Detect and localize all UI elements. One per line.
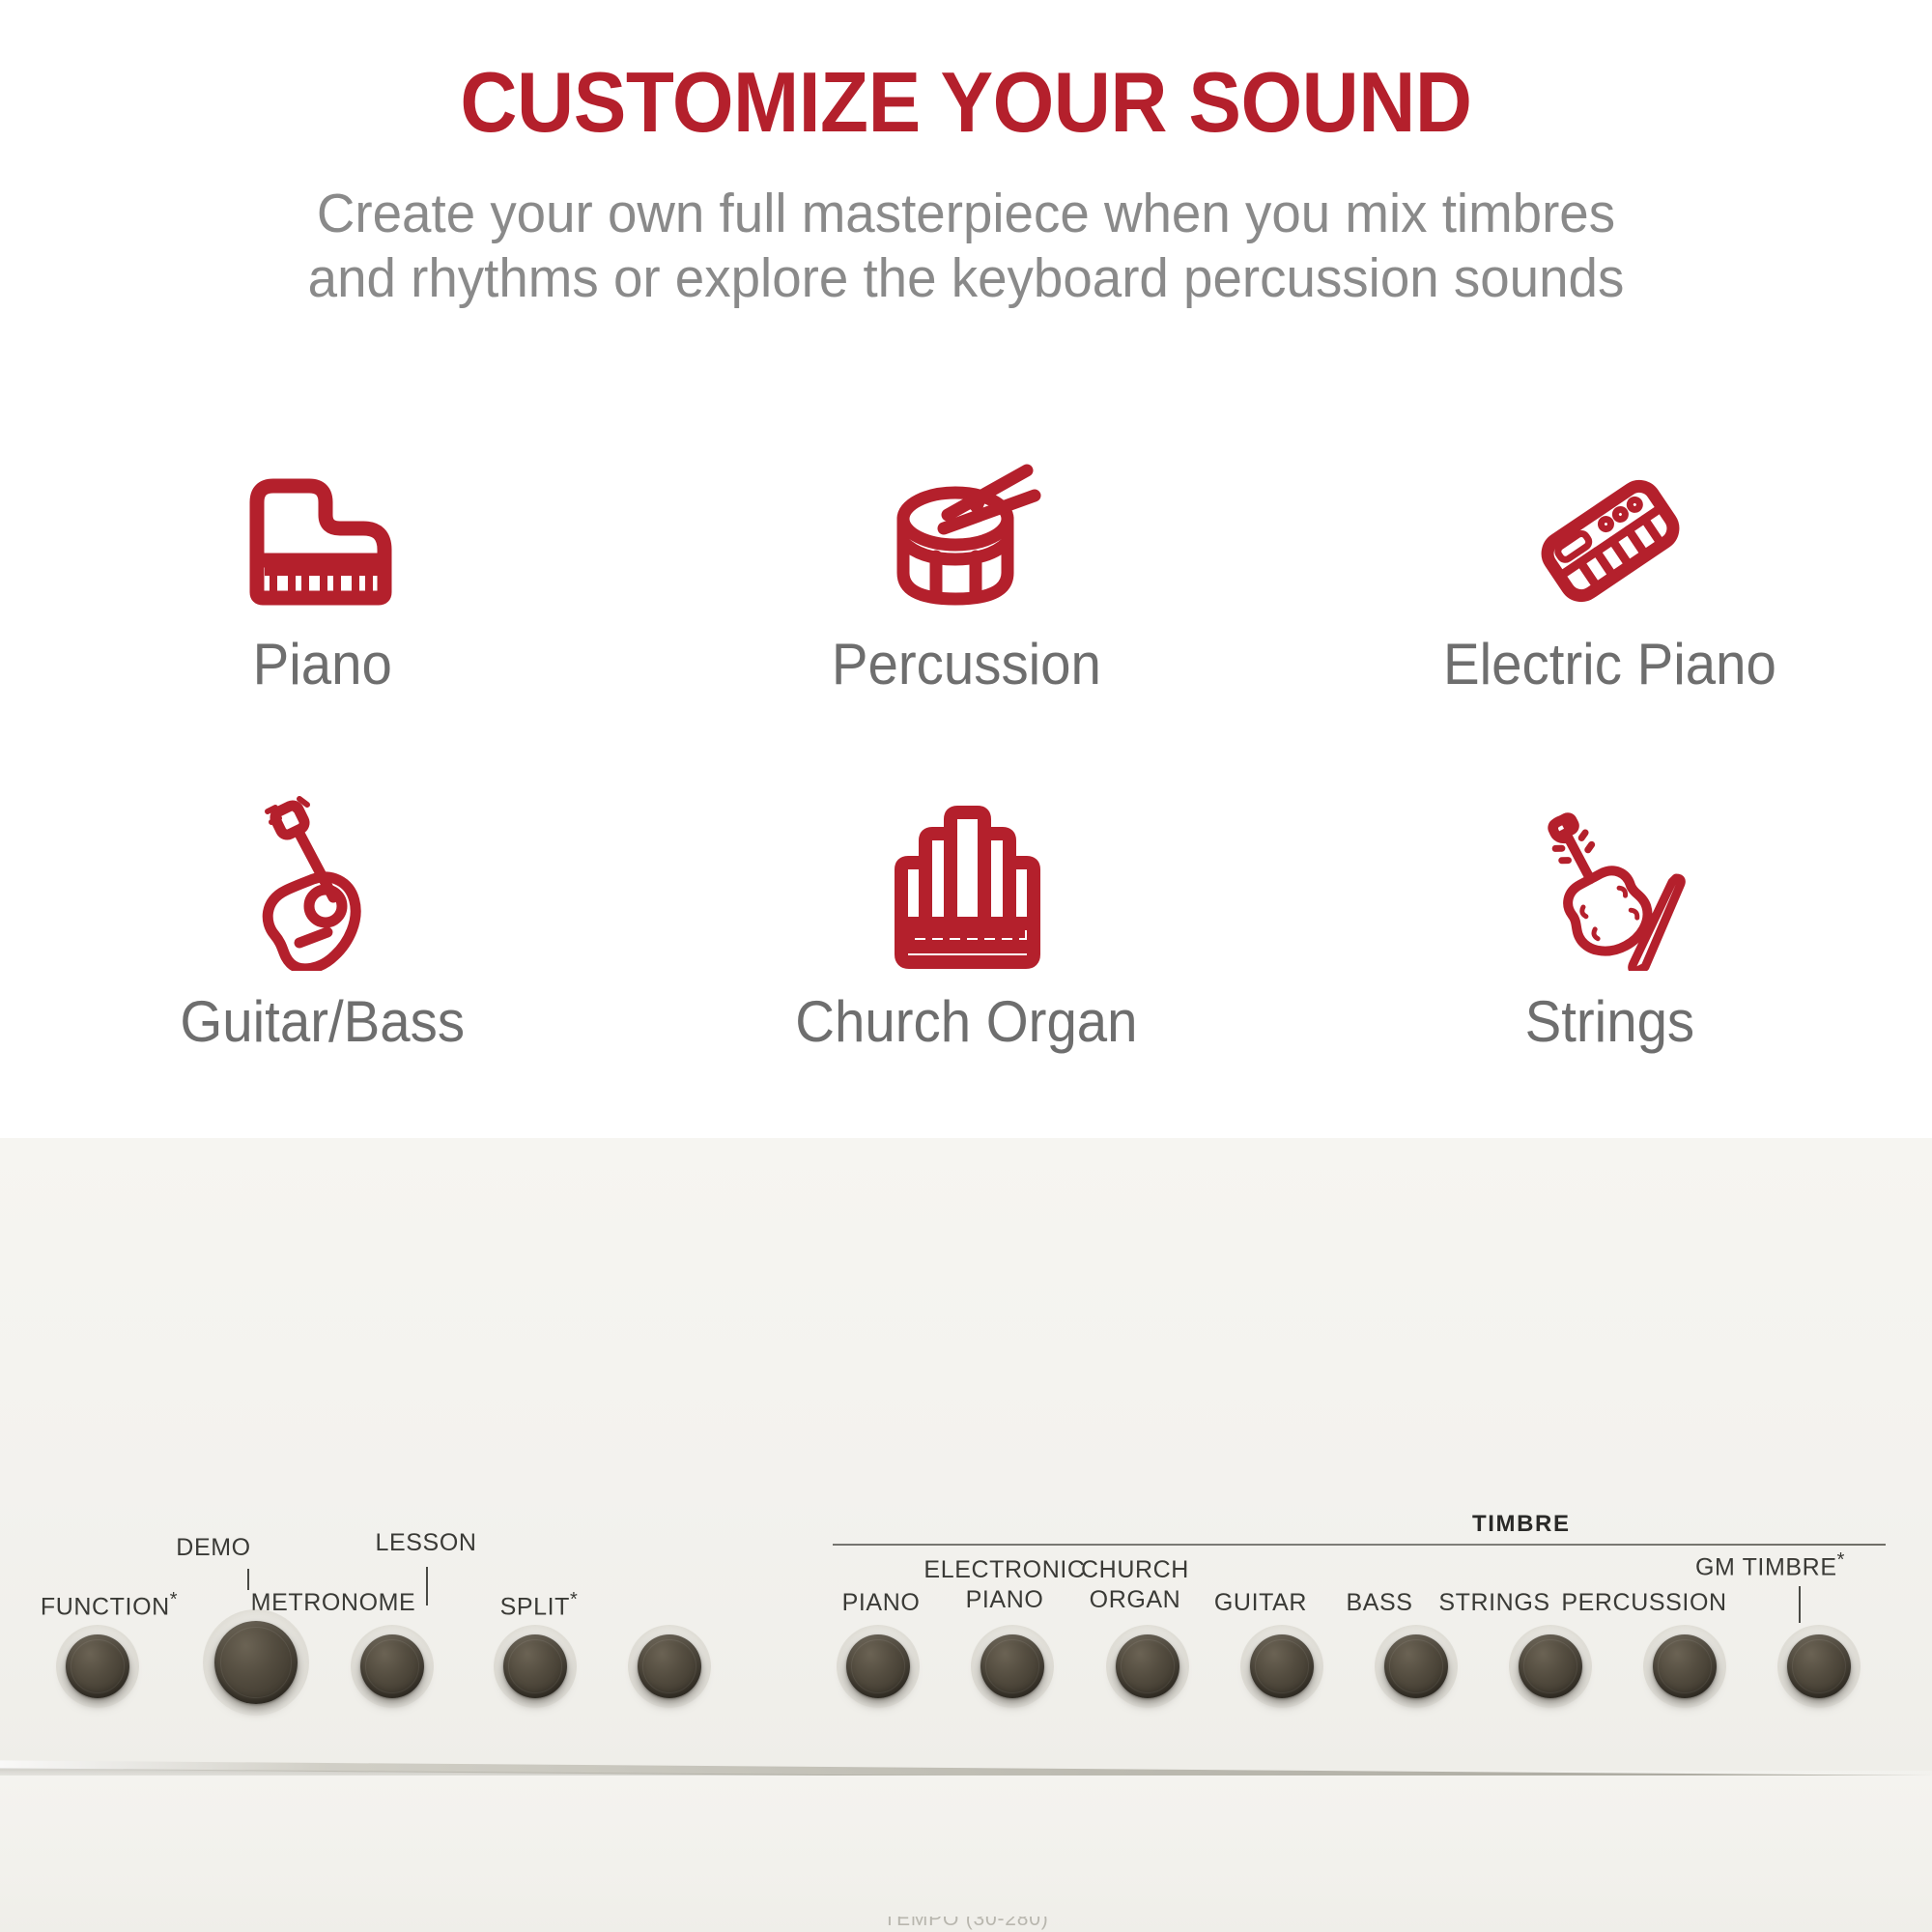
feature-grid: Piano — [0, 440, 1932, 1055]
page-subtitle: Create your own full masterpiece when yo… — [168, 182, 1763, 312]
label-text: BASS — [1346, 1589, 1412, 1616]
control-label-bass: BASS — [1321, 1589, 1437, 1617]
electric-keyboard-icon — [1523, 440, 1697, 613]
button-timbre-church-organ[interactable] — [1116, 1634, 1179, 1698]
snare-drum-icon — [882, 440, 1051, 613]
grand-piano-icon — [240, 440, 404, 613]
asterisk-marker: * — [1837, 1549, 1845, 1571]
label-text: DEMO — [176, 1534, 250, 1561]
control-label-function: FUNCTION* — [32, 1589, 186, 1621]
label-text: PIANO — [842, 1589, 921, 1616]
button-split[interactable] — [638, 1634, 701, 1698]
subtitle-line-1: Create your own full masterpiece when yo… — [317, 183, 1615, 244]
label-text: ORGAN — [1058, 1585, 1212, 1615]
button-metronome[interactable] — [360, 1634, 424, 1698]
promo-top-panel: CUSTOMIZE YOUR SOUND Create your own ful… — [0, 0, 1932, 1138]
button-timbre-strings[interactable] — [1519, 1634, 1582, 1698]
pipe-organ-icon — [887, 797, 1046, 971]
feature-item-percussion: Percussion — [644, 440, 1289, 697]
control-label-split: SPLIT* — [486, 1589, 592, 1621]
button-demo[interactable] — [214, 1621, 298, 1704]
feature-label: Strings — [1525, 988, 1695, 1055]
feature-label: Guitar/Bass — [180, 988, 465, 1055]
feature-item-strings: Strings — [1288, 797, 1932, 1055]
button-lesson[interactable] — [503, 1634, 567, 1698]
button-function[interactable] — [66, 1634, 129, 1698]
subtitle-line-2: and rhythms or explore the keyboard perc… — [168, 246, 1763, 311]
button-timbre-piano[interactable] — [846, 1634, 910, 1698]
feature-item-church-organ: Church Organ — [644, 797, 1289, 1055]
lesson-tick-line — [426, 1567, 428, 1605]
demo-tick-line — [247, 1569, 249, 1590]
panel-lower-surface — [0, 1776, 1932, 1932]
timbre-group-label: TIMBRE — [1472, 1511, 1571, 1538]
label-text: STRINGS — [1438, 1589, 1549, 1616]
button-timbre-electronic-piano[interactable] — [980, 1634, 1044, 1698]
acoustic-guitar-icon — [244, 797, 399, 971]
control-label-gm-timbre: GM TIMBRE* — [1695, 1549, 1918, 1581]
control-label-church-organ: CHURCH ORGAN — [1058, 1555, 1212, 1614]
button-timbre-guitar[interactable] — [1250, 1634, 1314, 1698]
label-text: LESSON — [375, 1529, 476, 1556]
label-text: PERCUSSION — [1561, 1589, 1726, 1616]
button-timbre-percussion[interactable] — [1653, 1634, 1717, 1698]
label-sub-text: CHURCH — [1058, 1555, 1212, 1585]
label-text: SPLIT — [500, 1593, 570, 1620]
feature-label: Piano — [252, 631, 391, 697]
control-label-guitar: GUITAR — [1198, 1589, 1323, 1617]
feature-label: Electric Piano — [1443, 631, 1776, 697]
feature-item-guitar-bass: Guitar/Bass — [0, 797, 644, 1055]
keyboard-photo — [0, 1138, 1932, 1932]
control-label-demo: DEMO — [160, 1534, 267, 1562]
label-text: METRONOME — [251, 1589, 416, 1616]
timbre-group-rule — [833, 1544, 1886, 1546]
control-label-lesson: LESSON — [368, 1529, 484, 1557]
control-label-percussion: PERCUSSION — [1543, 1589, 1746, 1617]
gm-timbre-tick-line — [1799, 1586, 1801, 1623]
tempo-label: TEMPO (30-280) — [0, 1917, 1932, 1931]
feature-item-electric-piano: Electric Piano — [1288, 440, 1932, 697]
button-timbre-bass[interactable] — [1384, 1634, 1448, 1698]
violin-icon — [1525, 797, 1694, 971]
asterisk-marker: * — [570, 1589, 578, 1610]
asterisk-marker: * — [170, 1589, 178, 1610]
feature-item-piano: Piano — [0, 440, 644, 697]
feature-label: Church Organ — [795, 988, 1137, 1055]
button-gm-timbre[interactable] — [1787, 1634, 1851, 1698]
label-text: GM TIMBRE — [1695, 1553, 1837, 1580]
label-text: GUITAR — [1214, 1589, 1307, 1616]
panel-bottom-text-strip: TEMPO (30-280) — [0, 1917, 1932, 1932]
page-title: CUSTOMIZE YOUR SOUND — [68, 60, 1864, 145]
feature-label: Percussion — [831, 631, 1100, 697]
feature-row: Guitar/Bass — [0, 797, 1932, 1055]
feature-row: Piano — [0, 440, 1932, 697]
label-text: FUNCTION — [41, 1593, 170, 1620]
